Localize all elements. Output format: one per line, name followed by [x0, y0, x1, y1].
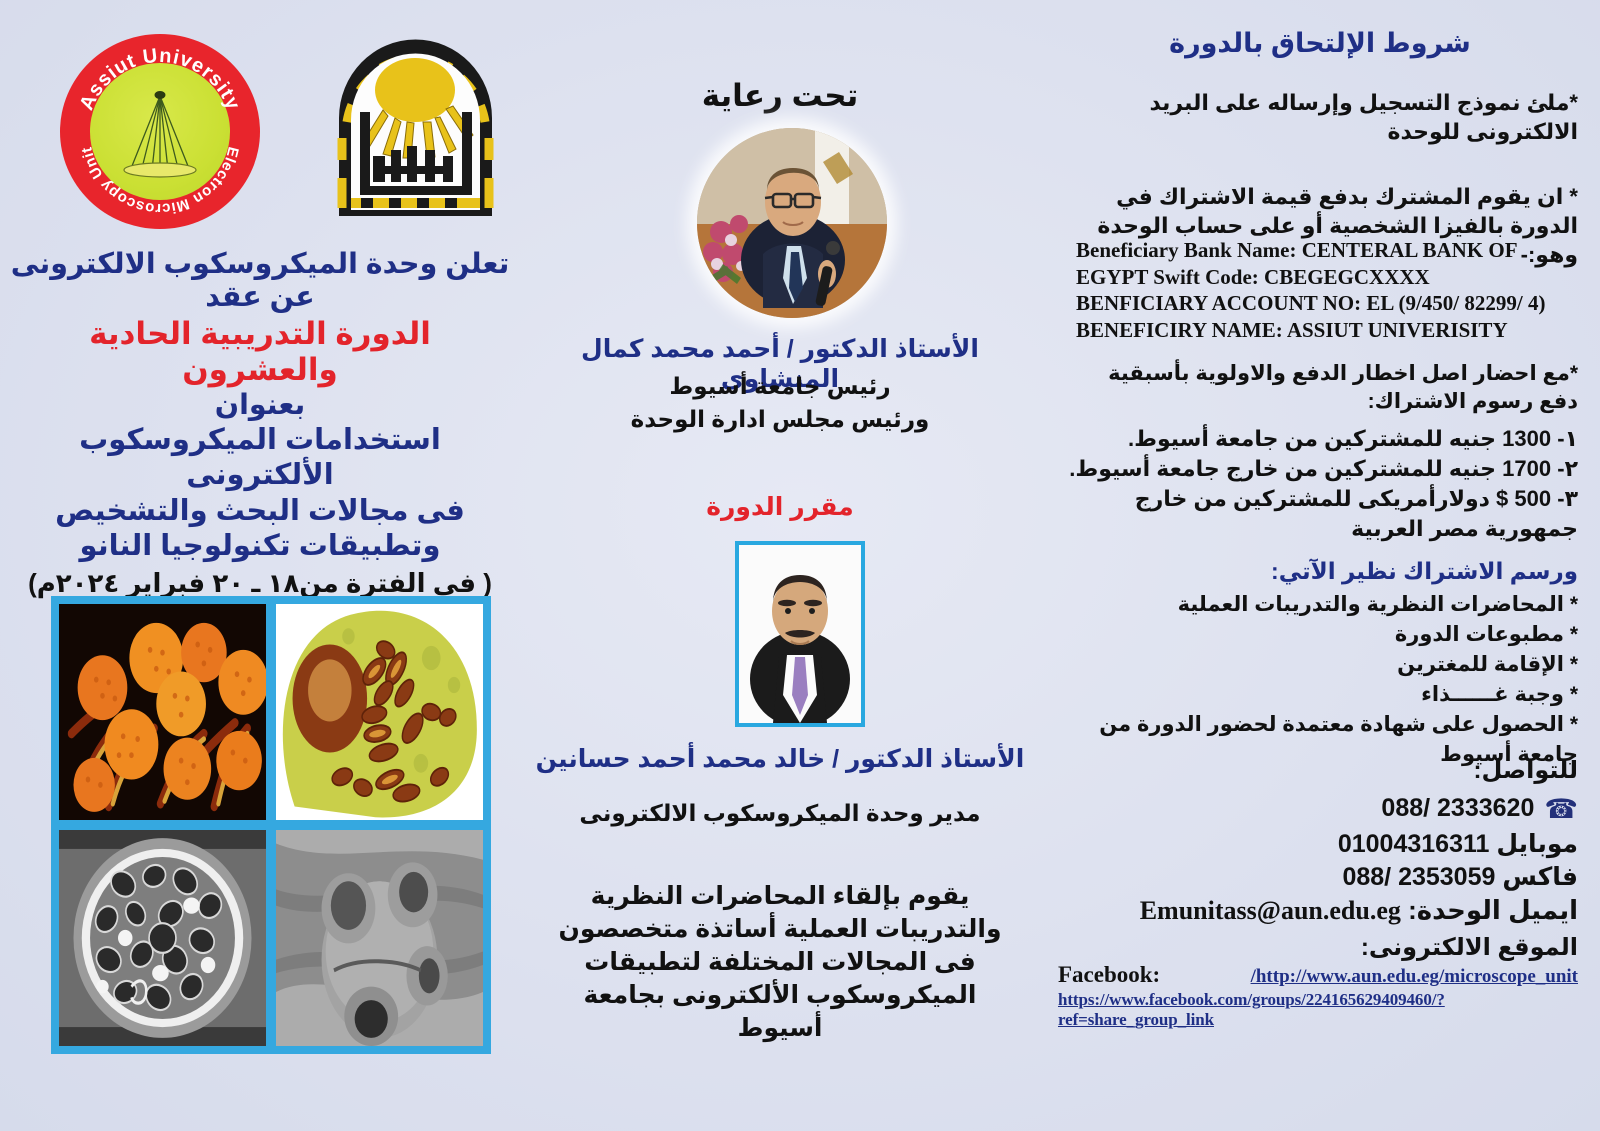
fee-item: ٣- 500 $ دولارأمريكى للمشتركين من خارج ج… — [1068, 484, 1578, 544]
phone-number: 088/ 2333620 — [1381, 792, 1534, 825]
includes-heading: ورسم الاشتراك نظير الآتي: — [1078, 558, 1578, 585]
announcement-line-1: تعلن وحدة الميكروسكوب الالكترونى عن عقد — [10, 248, 510, 314]
website-url[interactable]: /http://www.aun.edu.eg/microscope_unit — [1251, 966, 1578, 988]
tem-nerve-artwork — [59, 830, 266, 1046]
sem-micrograph-pollen-grains — [59, 604, 266, 820]
facebook-url[interactable]: https://www.facebook.com/groups/22416562… — [1058, 990, 1588, 1030]
sponsor-portrait — [697, 128, 887, 318]
coordinator-heading: مقرر الدورة — [520, 492, 1040, 522]
email-address[interactable]: Emunitass@aun.edu.eg — [1140, 896, 1401, 926]
website-label: الموقع الالكترونى: — [1361, 934, 1578, 961]
bank-details: Beneficiary Bank Name: CENTERAL BANK OF … — [1058, 237, 1578, 344]
mobile-number: 01004316311 — [1338, 828, 1490, 861]
tem-micrograph-cell-with-crystals — [276, 604, 483, 820]
fax-label: فاكس — [1502, 863, 1578, 891]
condition-proof-of-payment: *مع احضار اصل اخطار الدفع والاولوية بأسب… — [1078, 360, 1578, 415]
email-label: ايميل الوحدة: — [1408, 895, 1578, 925]
conditions-title: شروط الإلتحاق بالدورة — [1040, 28, 1600, 59]
coordinator-name: الأستاذ الدكتور / خالد محمد أحمد حسانين — [520, 744, 1040, 774]
bank-line-3: BENFICIARY ACCOUNT NO: EL (9/450/ 82299/… — [1058, 290, 1578, 317]
include-item: * مطبوعات الدورة — [1068, 620, 1578, 650]
fee-item: ٢- 1700 جنيه للمشتركين من خارج جامعة أسي… — [1068, 454, 1578, 484]
left-column: Assiut University Electron Microscopy Un… — [0, 0, 520, 1131]
sem-pollen-artwork — [59, 604, 266, 820]
bank-line-1: Beneficiary Bank Name: CENTERAL BANK OF — [1058, 237, 1578, 264]
fees-list: ١- 1300 جنيه للمشتركين من جامعة أسيوط. ٢… — [1068, 424, 1578, 544]
include-item: * المحاضرات النظرية والتدريبات العملية — [1068, 590, 1578, 620]
fax-row: فاكس 088/ 2353059 — [1078, 861, 1578, 894]
course-dates: ( فى الفترة من١٨ ـ ٢٠ فبراير ٢٠٢٤م) — [10, 568, 510, 599]
sem-parasite-artwork — [276, 830, 483, 1046]
mobile-row: موبايل 01004316311 — [1078, 828, 1578, 861]
em-logo-artwork: Assiut University Electron Microscopy Un… — [60, 34, 260, 229]
course-title-line-1: استخدامات الميكروسكوب الألكترونى — [10, 423, 510, 493]
contact-numbers: ☎088/ 2333620 موبايل 01004316311 فاكس 08… — [1078, 792, 1578, 894]
entitled-label: بعنوان — [10, 389, 510, 422]
email-row: ايميل الوحدة: Emunitass@aun.edu.eg — [1068, 895, 1578, 926]
coordinator-portrait — [735, 541, 865, 727]
course-edition-title: الدورة التدريبية الحادية والعشرون — [10, 316, 510, 388]
includes-list: * المحاضرات النظرية والتدريبات العملية *… — [1068, 590, 1578, 770]
course-title-line-2: فى مجالات البحث والتشخيص — [10, 494, 510, 529]
right-column: شروط الإلتحاق بالدورة *ملئ نموذج التسجيل… — [1040, 0, 1600, 1131]
bank-line-4: BENEFICIRY NAME: ASSIUT UNIVERISITY — [1058, 317, 1578, 344]
fee-item: ١- 1300 جنيه للمشتركين من جامعة أسيوط. — [1068, 424, 1578, 454]
bank-line-2: EGYPT Swift Code: CBEGEGCXXXX — [1058, 264, 1578, 291]
sponsor-role-2: ورئيس مجلس ادارة الوحدة — [520, 406, 1040, 433]
condition-registration: *ملئ نموذج التسجيل وإرساله على البريد ال… — [1078, 88, 1578, 146]
center-column: تحت رعاية — [520, 0, 1040, 1131]
tem-cell-crystals-artwork — [276, 604, 483, 820]
poster-canvas: Assiut University Electron Microscopy Un… — [0, 0, 1600, 1131]
fax-number: 088/ 2353059 — [1342, 861, 1495, 894]
assiut-university-logo — [333, 38, 498, 218]
sem-micrograph-parasite-scolex — [276, 830, 483, 1046]
tem-micrograph-nerve-cross-section — [59, 830, 266, 1046]
coordinator-portrait-artwork — [739, 545, 861, 723]
announcement-block: تعلن وحدة الميكروسكوب الالكترونى عن عقد … — [10, 248, 510, 599]
assiut-university-logo-artwork — [333, 38, 498, 218]
telephone-icon: ☎ — [1544, 792, 1578, 828]
logo-row: Assiut University Electron Microscopy Un… — [0, 26, 520, 226]
sponsor-role-1: رئيس جامعة أسيوط — [520, 373, 1040, 400]
coordinator-role: مدير وحدة الميكروسكوب الالكترونى — [520, 800, 1040, 827]
sponsor-heading: تحت رعاية — [520, 78, 1040, 114]
micrograph-gallery — [51, 596, 491, 1054]
include-item: * وجبة غــــــذاء — [1068, 680, 1578, 710]
facebook-label: Facebook: — [1058, 962, 1160, 988]
phone-row: ☎088/ 2333620 — [1078, 792, 1578, 828]
lecturers-note: يقوم بإلقاء المحاضرات النظرية والتدريبات… — [548, 880, 1012, 1045]
course-title-line-3: وتطبيقات تكنولوجيا النانو — [10, 529, 510, 564]
contact-heading: للتواصل: — [1078, 756, 1578, 785]
mobile-label: موبايل — [1496, 830, 1578, 858]
include-item: * الإقامة للمغترين — [1068, 650, 1578, 680]
sponsor-portrait-artwork — [697, 128, 887, 318]
em-unit-logo: Assiut University Electron Microscopy Un… — [60, 34, 260, 229]
